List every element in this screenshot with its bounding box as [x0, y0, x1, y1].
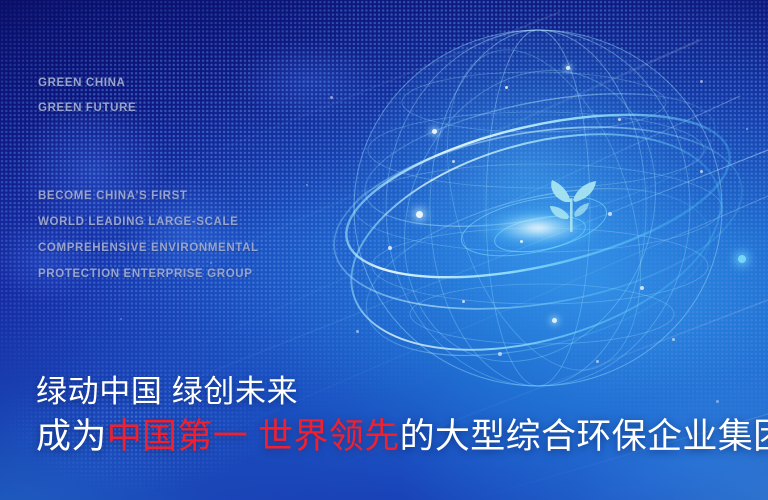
headline-highlight: 中国第一 世界领先: [107, 417, 400, 456]
particle: [356, 330, 359, 333]
particle: [700, 80, 703, 83]
slogan-line: BECOME CHINA'S FIRST: [38, 183, 259, 209]
particle: [120, 318, 122, 320]
slogan-english-top: GREEN CHINA GREEN FUTURE: [38, 71, 136, 121]
slogan-line: GREEN FUTURE: [38, 96, 136, 121]
particle: [566, 66, 570, 70]
particle: [640, 286, 644, 290]
particle: [672, 338, 675, 341]
particle: [452, 160, 455, 163]
particle: [462, 300, 465, 303]
particle: [552, 318, 557, 323]
particle: [432, 129, 437, 134]
particle: [618, 118, 621, 121]
slogan-line: GREEN CHINA: [38, 71, 136, 96]
particle: [520, 240, 523, 243]
particle: [306, 184, 308, 186]
slogan-line: PROTECTION ENTERPRISE GROUP: [38, 261, 259, 287]
particle: [716, 400, 719, 403]
particle: [416, 211, 423, 218]
slogan-line: COMPREHENSIVE ENVIRONMENTAL: [38, 235, 259, 261]
particle: [505, 86, 508, 89]
particle: [330, 96, 333, 99]
slogan-english-main: BECOME CHINA'S FIRST WORLD LEADING LARGE…: [38, 183, 259, 287]
slogan-line: WORLD LEADING LARGE-SCALE: [38, 209, 259, 235]
headline-line-1: 绿动中国 绿创未来: [36, 366, 298, 411]
headline-prefix: 成为: [36, 417, 107, 456]
particle: [388, 246, 392, 250]
headline-line-2: 成为中国第一 世界领先的大型综合环保企业集团: [36, 408, 768, 459]
particle: [746, 128, 748, 130]
particle: [738, 255, 746, 263]
headline-suffix: 的大型综合环保企业集团: [400, 417, 768, 456]
particle: [498, 352, 502, 356]
banner-root: GREEN CHINA GREEN FUTURE BECOME CHINA'S …: [0, 0, 768, 500]
particle: [596, 360, 599, 363]
particle: [700, 170, 703, 173]
particle: [608, 212, 612, 216]
